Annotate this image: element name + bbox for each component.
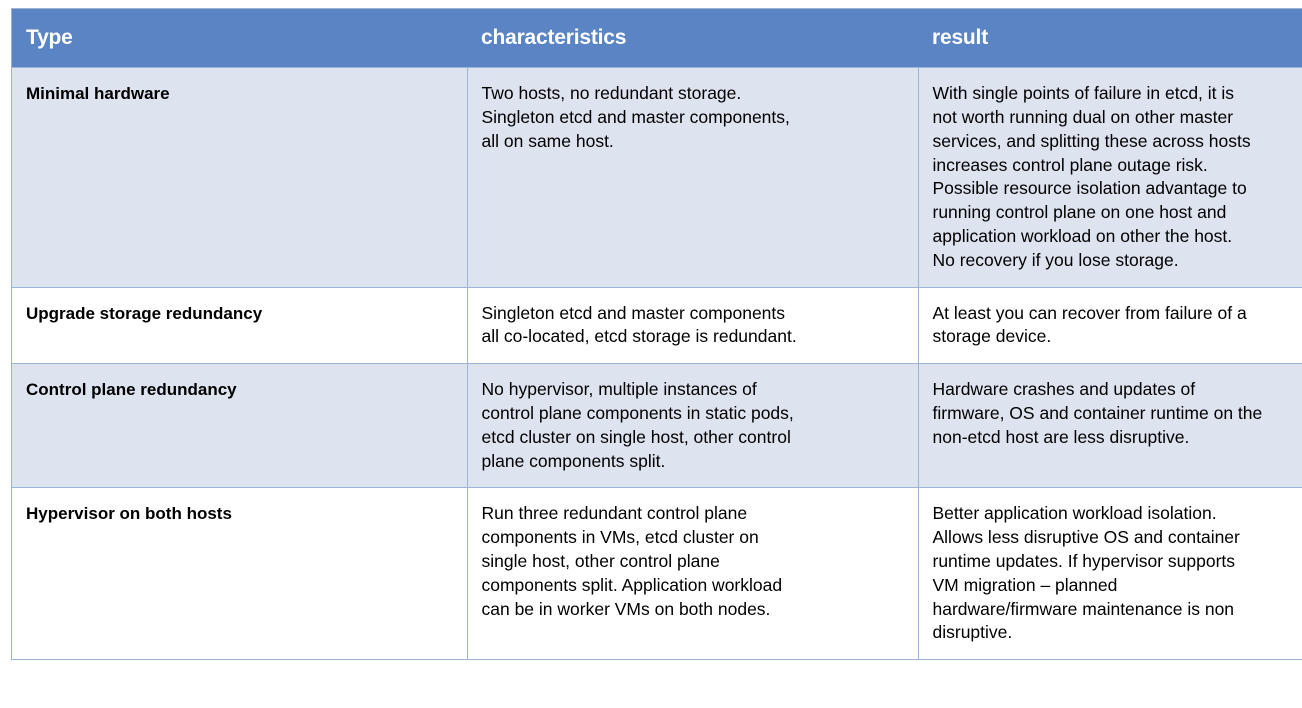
cell-result: Hardware crashes and updates of firmware… bbox=[918, 364, 1302, 488]
cell-type: Hypervisor on both hosts bbox=[12, 488, 468, 660]
table-row: Minimal hardware Two hosts, no redundant… bbox=[12, 68, 1302, 287]
table-header: Type characteristics result bbox=[12, 9, 1302, 68]
cell-type-text: Control plane redundancy bbox=[26, 378, 451, 401]
cell-result-text: Better application workload isolation. A… bbox=[933, 502, 1302, 645]
cell-result: At least you can recover from failure of… bbox=[918, 287, 1302, 364]
cell-characteristics: No hypervisor, multiple instances of con… bbox=[467, 364, 918, 488]
table-row: Hypervisor on both hosts Run three redun… bbox=[12, 488, 1302, 660]
cluster-topology-comparison-table: Type characteristics result Minimal hard… bbox=[11, 8, 1302, 660]
table-header-row: Type characteristics result bbox=[12, 9, 1302, 68]
cell-type-text: Minimal hardware bbox=[26, 82, 451, 105]
cell-characteristics-text: No hypervisor, multiple instances of con… bbox=[482, 378, 902, 473]
table-body: Minimal hardware Two hosts, no redundant… bbox=[12, 68, 1302, 660]
cell-characteristics: Singleton etcd and master components all… bbox=[467, 287, 918, 364]
cell-characteristics-text: Two hosts, no redundant storage. Singlet… bbox=[482, 82, 902, 153]
cell-result: Better application workload isolation. A… bbox=[918, 488, 1302, 660]
column-header-type: Type bbox=[12, 9, 468, 68]
cell-type-text: Upgrade storage redundancy bbox=[26, 302, 451, 325]
table-row: Upgrade storage redundancy Singleton etc… bbox=[12, 287, 1302, 364]
cell-characteristics-text: Run three redundant control plane compon… bbox=[482, 502, 902, 621]
cell-result-text: Hardware crashes and updates of firmware… bbox=[933, 378, 1302, 449]
cell-result-text: At least you can recover from failure of… bbox=[933, 302, 1302, 350]
cell-characteristics-text: Singleton etcd and master components all… bbox=[482, 302, 902, 350]
cell-type: Minimal hardware bbox=[12, 68, 468, 287]
cell-type: Control plane redundancy bbox=[12, 364, 468, 488]
column-header-result: result bbox=[918, 9, 1302, 68]
column-header-characteristics: characteristics bbox=[467, 9, 918, 68]
cell-characteristics: Two hosts, no redundant storage. Singlet… bbox=[467, 68, 918, 287]
cell-type-text: Hypervisor on both hosts bbox=[26, 502, 451, 525]
cell-characteristics: Run three redundant control plane compon… bbox=[467, 488, 918, 660]
cell-result-text: With single points of failure in etcd, i… bbox=[933, 82, 1302, 272]
table-row: Control plane redundancy No hypervisor, … bbox=[12, 364, 1302, 488]
comparison-table-container: Type characteristics result Minimal hard… bbox=[11, 8, 1290, 701]
cell-result: With single points of failure in etcd, i… bbox=[918, 68, 1302, 287]
cell-type: Upgrade storage redundancy bbox=[12, 287, 468, 364]
